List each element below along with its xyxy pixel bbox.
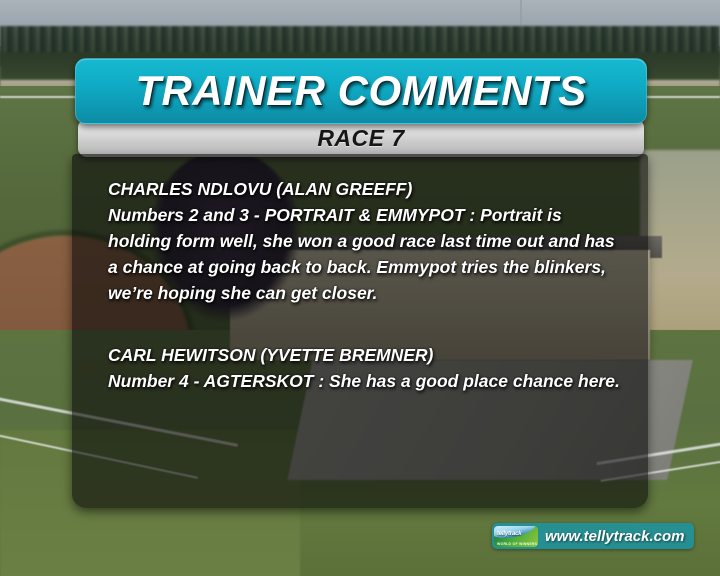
trainer-name: CARL HEWITSON (YVETTE BREMNER) xyxy=(108,342,630,368)
tellytrack-logo-icon: tellytrack WORLD OF WINNERS xyxy=(494,526,538,547)
comment-line: holding form well, she won a good race l… xyxy=(108,228,630,254)
trainer-comments-board: RACE 7 TRAINER COMMENTS CHARLES NDLOVU (… xyxy=(70,58,648,510)
trainer-name: CHARLES NDLOVU (ALAN GREEFF) xyxy=(108,176,630,202)
comment-line: Numbers 2 and 3 - PORTRAIT & EMMYPOT : P… xyxy=(108,202,630,228)
page-title: TRAINER COMMENTS xyxy=(135,67,586,115)
tellytrack-url: www.tellytrack.com xyxy=(545,528,685,545)
tellytrack-watermark[interactable]: tellytrack WORLD OF WINNERS www.tellytra… xyxy=(492,523,694,549)
race-subtitle-bar: RACE 7 xyxy=(78,119,644,157)
comment-line: a chance at going back to back. Emmypot … xyxy=(108,254,630,280)
tellytrack-logo-tagline: WORLD OF WINNERS xyxy=(497,542,537,546)
broadcast-graphic-screen: RACE 7 TRAINER COMMENTS CHARLES NDLOVU (… xyxy=(0,0,720,576)
comment-line: we’re hoping she can get closer. xyxy=(108,280,630,306)
comment-line: Number 4 - AGTERSKOT : She has a good pl… xyxy=(108,368,630,394)
tellytrack-logo-text: tellytrack xyxy=(497,531,521,537)
comment-spacer xyxy=(108,314,630,342)
comments-panel: CHARLES NDLOVU (ALAN GREEFF) Numbers 2 a… xyxy=(72,154,648,508)
race-subtitle-text: RACE 7 xyxy=(317,125,404,152)
comment-block: CHARLES NDLOVU (ALAN GREEFF) Numbers 2 a… xyxy=(108,176,630,306)
comments-list: CHARLES NDLOVU (ALAN GREEFF) Numbers 2 a… xyxy=(108,176,630,402)
comment-block: CARL HEWITSON (YVETTE BREMNER) Number 4 … xyxy=(108,342,630,394)
title-bar: TRAINER COMMENTS xyxy=(75,58,647,124)
